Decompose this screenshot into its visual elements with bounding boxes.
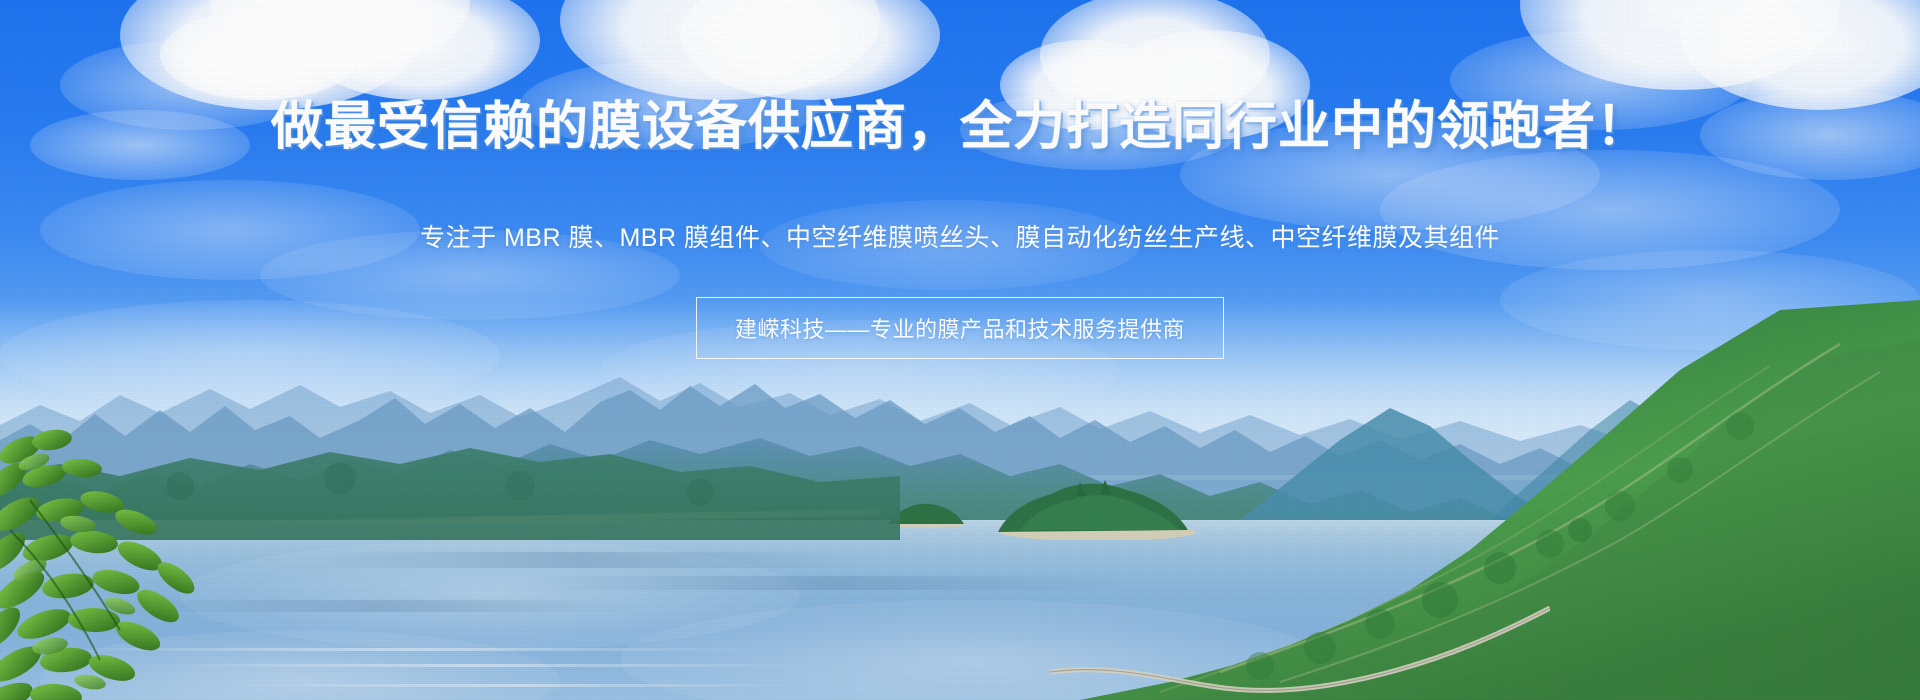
page-subtitle: 专注于 MBR 膜、MBR 膜组件、中空纤维膜喷丝头、膜自动化纺丝生产线、中空纤… — [0, 218, 1920, 254]
tagline-text: 建嵘科技——专业的膜产品和技术服务提供商 — [735, 312, 1185, 344]
page-title: 做最受信赖的膜设备供应商，全力打造同行业中的领跑者！ — [0, 96, 1920, 158]
foreground-foliage — [0, 410, 250, 700]
tagline-box[interactable]: 建嵘科技——专业的膜产品和技术服务提供商 — [696, 297, 1224, 359]
hero-banner: 做最受信赖的膜设备供应商，全力打造同行业中的领跑者！ 专注于 MBR 膜、MBR… — [0, 0, 1920, 700]
winding-road — [1050, 560, 1550, 700]
